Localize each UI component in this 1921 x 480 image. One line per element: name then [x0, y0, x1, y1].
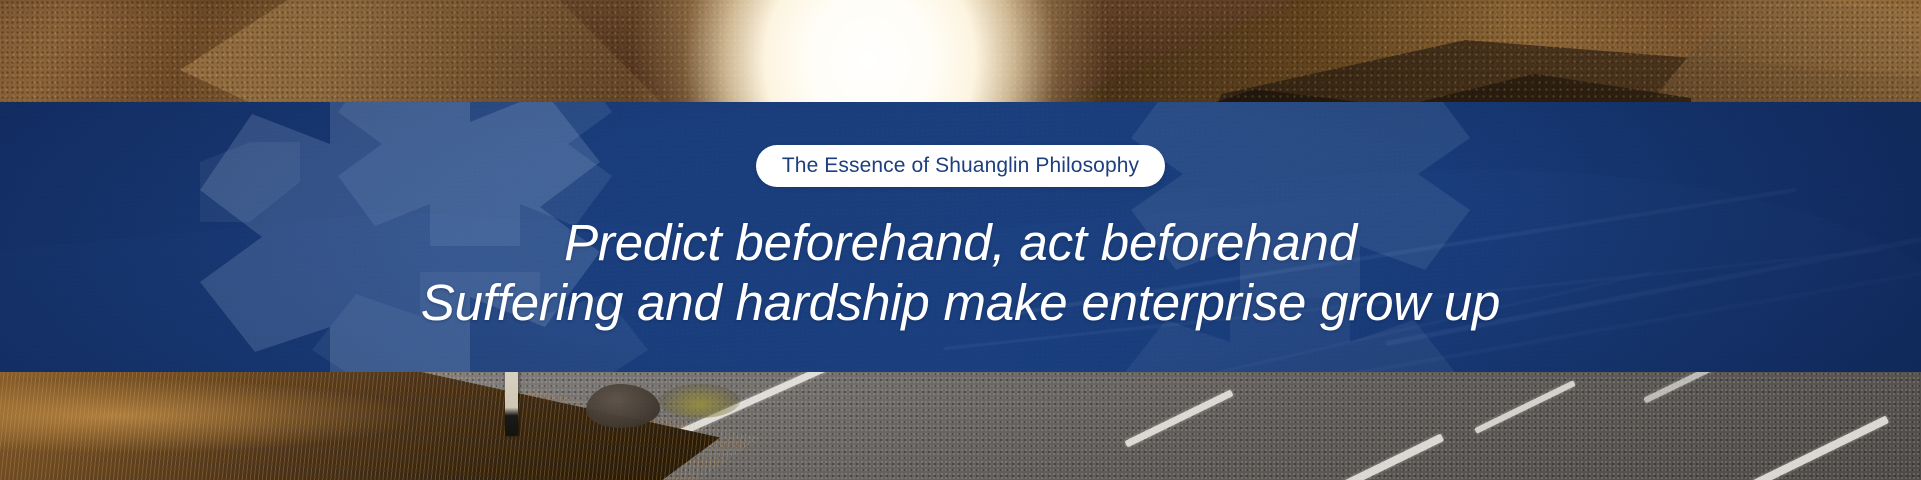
headline-block: Predict beforehand, act beforehand Suffe…: [421, 213, 1500, 332]
headline-line-2: Suffering and hardship make enterprise g…: [421, 273, 1500, 333]
roadside-rock: [586, 384, 660, 428]
lower-road-scene: [0, 368, 1921, 480]
roadside-grass-highlight: [0, 378, 420, 454]
roadside-marker-post: [505, 368, 518, 436]
banner-stage: The Essence of Shuanglin Philosophy Pred…: [0, 0, 1921, 480]
philosophy-badge: The Essence of Shuanglin Philosophy: [756, 145, 1165, 187]
headline-line-1: Predict beforehand, act beforehand: [564, 214, 1357, 271]
banner-content: The Essence of Shuanglin Philosophy Pred…: [0, 102, 1921, 372]
blue-overlay-band: The Essence of Shuanglin Philosophy Pred…: [0, 102, 1921, 372]
roadside-shrub: [660, 384, 740, 418]
